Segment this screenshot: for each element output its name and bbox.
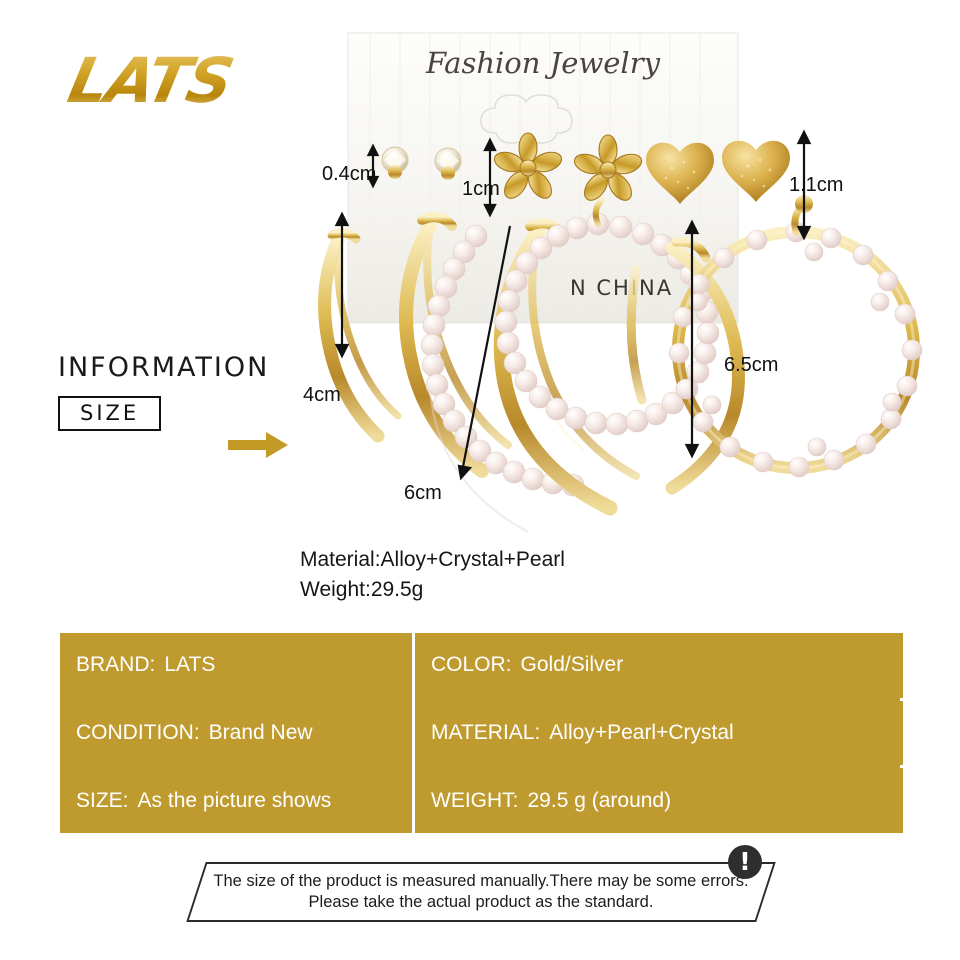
- table-cell-material: MATERIAL: Alloy+Pearl+Crystal: [415, 701, 903, 766]
- information-heading: INFORMATION: [58, 352, 288, 383]
- size-value: As the picture shows: [129, 789, 332, 813]
- color-value: Gold/Silver: [512, 653, 624, 677]
- exclamation-icon: !: [728, 845, 762, 879]
- disclaimer-line-1: The size of the product is measured manu…: [213, 872, 748, 891]
- specification-table: BRAND: LATS COLOR: Gold/Silver CONDITION…: [60, 633, 900, 833]
- weight-value: 29.5 g (around): [519, 789, 672, 813]
- brand-key: BRAND:: [76, 653, 155, 677]
- condition-value: Brand New: [200, 721, 313, 745]
- material-key: MATERIAL:: [431, 721, 540, 745]
- information-block: INFORMATION SIZE: [58, 352, 288, 431]
- weight-text: Weight:29.5g: [300, 575, 565, 605]
- material-text: Material:Alloy+Crystal+Pearl: [300, 545, 565, 575]
- table-cell-condition: CONDITION: Brand New: [60, 701, 412, 766]
- arrow-right-icon: [228, 432, 288, 458]
- card-origin: N CHINA: [570, 276, 673, 300]
- material-value: Alloy+Pearl+Crystal: [540, 721, 733, 745]
- table-cell-brand: BRAND: LATS: [60, 633, 412, 698]
- condition-key: CONDITION:: [76, 721, 200, 745]
- size-key: SIZE:: [76, 789, 129, 813]
- brand-value: LATS: [155, 653, 215, 677]
- size-label-box: SIZE: [58, 396, 161, 431]
- weight-key: WEIGHT:: [431, 789, 519, 813]
- disclaimer-note: The size of the product is measured manu…: [196, 862, 766, 922]
- dimension-label-hoop-medium: 6cm: [404, 482, 442, 505]
- dimension-label-stud-flower: 1cm: [462, 178, 500, 201]
- disclaimer-text: The size of the product is measured manu…: [196, 862, 766, 922]
- table-cell-size: SIZE: As the picture shows: [60, 768, 412, 833]
- table-cell-color: COLOR: Gold/Silver: [415, 633, 903, 698]
- disclaimer-line-2: Please take the actual product as the st…: [309, 893, 654, 912]
- dimension-label-stud-heart: 1.1cm: [789, 174, 843, 197]
- card-title: Fashion Jewelry: [425, 46, 661, 80]
- material-weight-block: Material:Alloy+Crystal+Pearl Weight:29.5…: [300, 545, 565, 605]
- dimension-label-hoop-small: 4cm: [303, 384, 341, 407]
- dimension-label-stud-crystal: 0.4cm: [322, 163, 376, 186]
- brand-logo: LATS: [70, 44, 290, 106]
- color-key: COLOR:: [431, 653, 512, 677]
- dimension-label-hoop-large: 6.5cm: [724, 354, 778, 377]
- brand-logo-text: LATS: [62, 44, 298, 117]
- table-cell-weight: WEIGHT: 29.5 g (around): [415, 768, 903, 833]
- product-photo: Fashion Jewelry N CHINA: [280, 20, 940, 610]
- exclamation-glyph: !: [739, 849, 750, 874]
- size-label-text: SIZE: [80, 401, 139, 425]
